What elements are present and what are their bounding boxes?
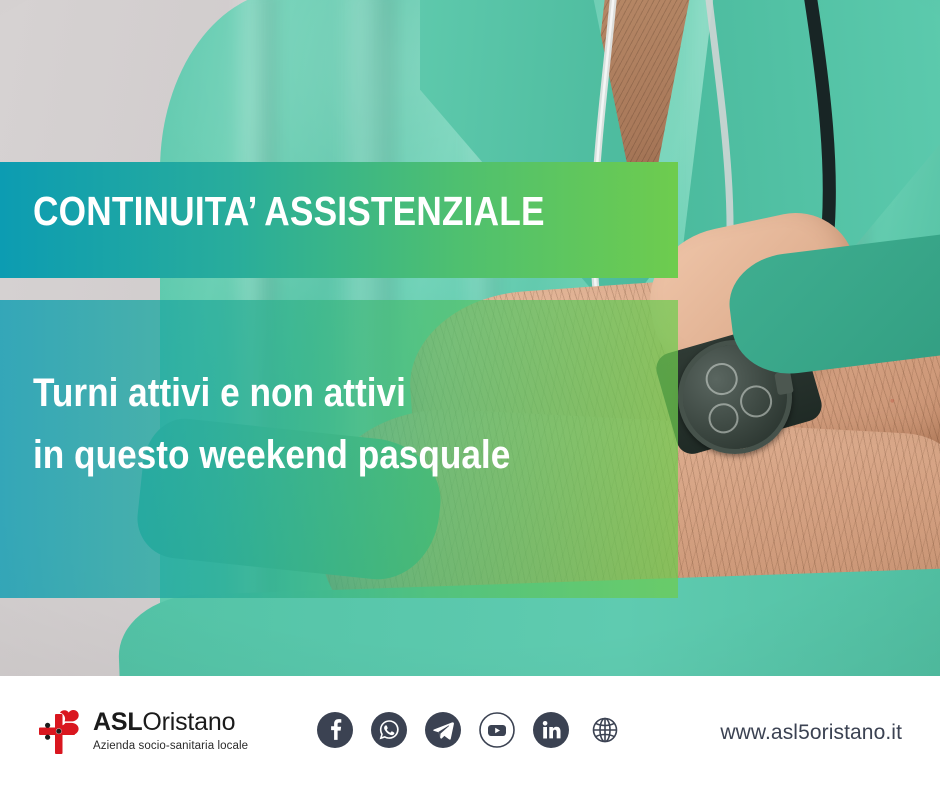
asl-logo[interactable]: ASLOristano Azienda socio-sanitaria loca… <box>38 706 248 756</box>
youtube-icon[interactable] <box>478 711 516 749</box>
website-url[interactable]: www.asl5oristano.it <box>720 721 902 745</box>
poster-canvas: CONTINUITA’ ASSISTENZIALE Turni attivi e… <box>0 0 940 788</box>
asl-logo-title: ASLOristano <box>93 709 248 736</box>
poster-subtitle: Turni attivi e non attivi in questo week… <box>33 362 510 486</box>
watch-subdial <box>706 401 741 436</box>
social-links <box>316 711 624 749</box>
asl-logo-name-light: Oristano <box>142 708 235 736</box>
asl-cross-heart-icon <box>38 706 84 756</box>
globe-icon[interactable] <box>586 711 624 749</box>
poster-subtitle-line1: Turni attivi e non attivi <box>33 371 406 415</box>
poster-title: CONTINUITA’ ASSISTENZIALE <box>33 191 545 232</box>
whatsapp-icon[interactable] <box>370 711 408 749</box>
hero-photo: CONTINUITA’ ASSISTENZIALE Turni attivi e… <box>0 0 940 676</box>
asl-logo-name-bold: ASL <box>93 708 142 736</box>
poster-subtitle-line2: in questo weekend pasquale <box>33 424 510 486</box>
asl-logo-tagline: Azienda socio-sanitaria locale <box>93 739 248 753</box>
asl-logo-wordmark: ASLOristano Azienda socio-sanitaria loca… <box>93 706 248 753</box>
telegram-icon[interactable] <box>424 711 462 749</box>
linkedin-icon[interactable] <box>532 711 570 749</box>
facebook-icon[interactable] <box>316 711 354 749</box>
watch-subdial <box>738 383 775 420</box>
watch-subdial <box>703 361 740 398</box>
